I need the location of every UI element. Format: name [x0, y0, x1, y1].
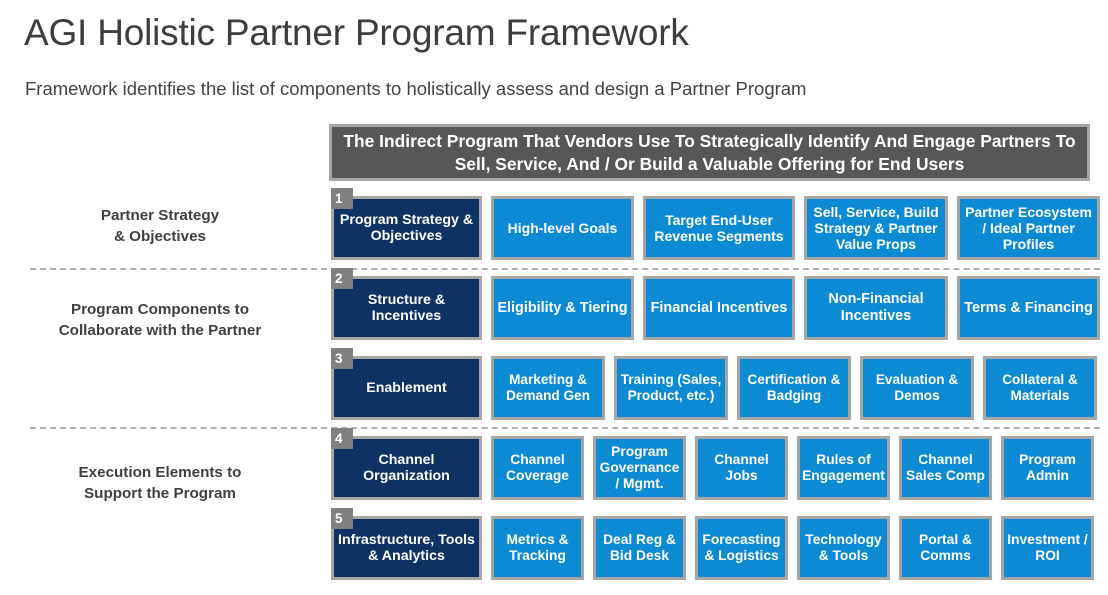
component-card[interactable]: Certification & Badging — [737, 356, 851, 420]
framework-row: EnablementMarketing & Demand GenTraining… — [331, 356, 1090, 420]
component-card[interactable]: Channel Coverage — [491, 436, 584, 500]
band-label-line-1: Execution Elements to — [10, 463, 310, 484]
framework-row: Channel OrganizationChannel CoverageProg… — [331, 436, 1090, 500]
band-label-line-2: & Objectives — [10, 227, 310, 248]
framework-row: Structure & IncentivesEligibility & Tier… — [331, 276, 1090, 340]
component-card[interactable]: Collateral & Materials — [983, 356, 1097, 420]
component-card[interactable]: Investment / ROI — [1001, 516, 1094, 580]
component-card[interactable]: Evaluation & Demos — [860, 356, 974, 420]
page-title: AGI Holistic Partner Program Framework — [24, 12, 689, 54]
band-label-line-1: Program Components to — [10, 300, 310, 321]
row-number-badge: 2 — [331, 268, 353, 289]
band-label-line-2: Support the Program — [10, 484, 310, 505]
component-card[interactable]: Partner Ecosystem / Ideal Partner Profil… — [957, 196, 1100, 260]
page-subtitle: Framework identifies the list of compone… — [25, 78, 806, 100]
lead-card[interactable]: Enablement — [331, 356, 482, 420]
component-card[interactable]: Financial Incentives — [643, 276, 795, 340]
framework-row: Infrastructure, Tools & AnalyticsMetrics… — [331, 516, 1090, 580]
band-label-line-1: Partner Strategy — [10, 206, 310, 227]
band-label-line-2: Collaborate with the Partner — [10, 321, 310, 342]
component-card[interactable]: Portal & Comms — [899, 516, 992, 580]
component-card[interactable]: Rules of Engagement — [797, 436, 890, 500]
band-separator — [30, 427, 1100, 429]
lead-card[interactable]: Structure & Incentives — [331, 276, 482, 340]
component-card[interactable]: Program Admin — [1001, 436, 1094, 500]
row-number-badge: 1 — [331, 188, 353, 209]
component-card[interactable]: High-level Goals — [491, 196, 634, 260]
component-card[interactable]: Eligibility & Tiering — [491, 276, 634, 340]
framework-banner: The Indirect Program That Vendors Use To… — [329, 124, 1090, 181]
component-card[interactable]: Sell, Service, Build Strategy & Partner … — [804, 196, 948, 260]
component-card[interactable]: Training (Sales, Product, etc.) — [614, 356, 728, 420]
component-card[interactable]: Marketing & Demand Gen — [491, 356, 605, 420]
row-number-badge: 3 — [331, 348, 353, 369]
component-card[interactable]: Technology & Tools — [797, 516, 890, 580]
framework-row: Program Strategy & ObjectivesHigh-level … — [331, 196, 1090, 260]
lead-card[interactable]: Infrastructure, Tools & Analytics — [331, 516, 482, 580]
row-number-badge: 5 — [331, 508, 353, 529]
component-card[interactable]: Target End-User Revenue Segments — [643, 196, 795, 260]
component-card[interactable]: Channel Sales Comp — [899, 436, 992, 500]
component-card[interactable]: Deal Reg & Bid Desk — [593, 516, 686, 580]
band-label-partner-strategy: Partner Strategy & Objectives — [10, 206, 310, 247]
component-card[interactable]: Channel Jobs — [695, 436, 788, 500]
component-card[interactable]: Terms & Financing — [957, 276, 1100, 340]
band-label-execution-elements: Execution Elements to Support the Progra… — [10, 463, 310, 504]
component-card[interactable]: Program Governance / Mgmt. — [593, 436, 686, 500]
component-card[interactable]: Non-Financial Incentives — [804, 276, 948, 340]
band-separator — [30, 268, 1100, 270]
band-label-program-components: Program Components to Collaborate with t… — [10, 300, 310, 341]
component-card[interactable]: Metrics & Tracking — [491, 516, 584, 580]
row-number-badge: 4 — [331, 428, 353, 449]
component-card[interactable]: Forecasting & Logistics — [695, 516, 788, 580]
lead-card[interactable]: Program Strategy & Objectives — [331, 196, 482, 260]
lead-card[interactable]: Channel Organization — [331, 436, 482, 500]
